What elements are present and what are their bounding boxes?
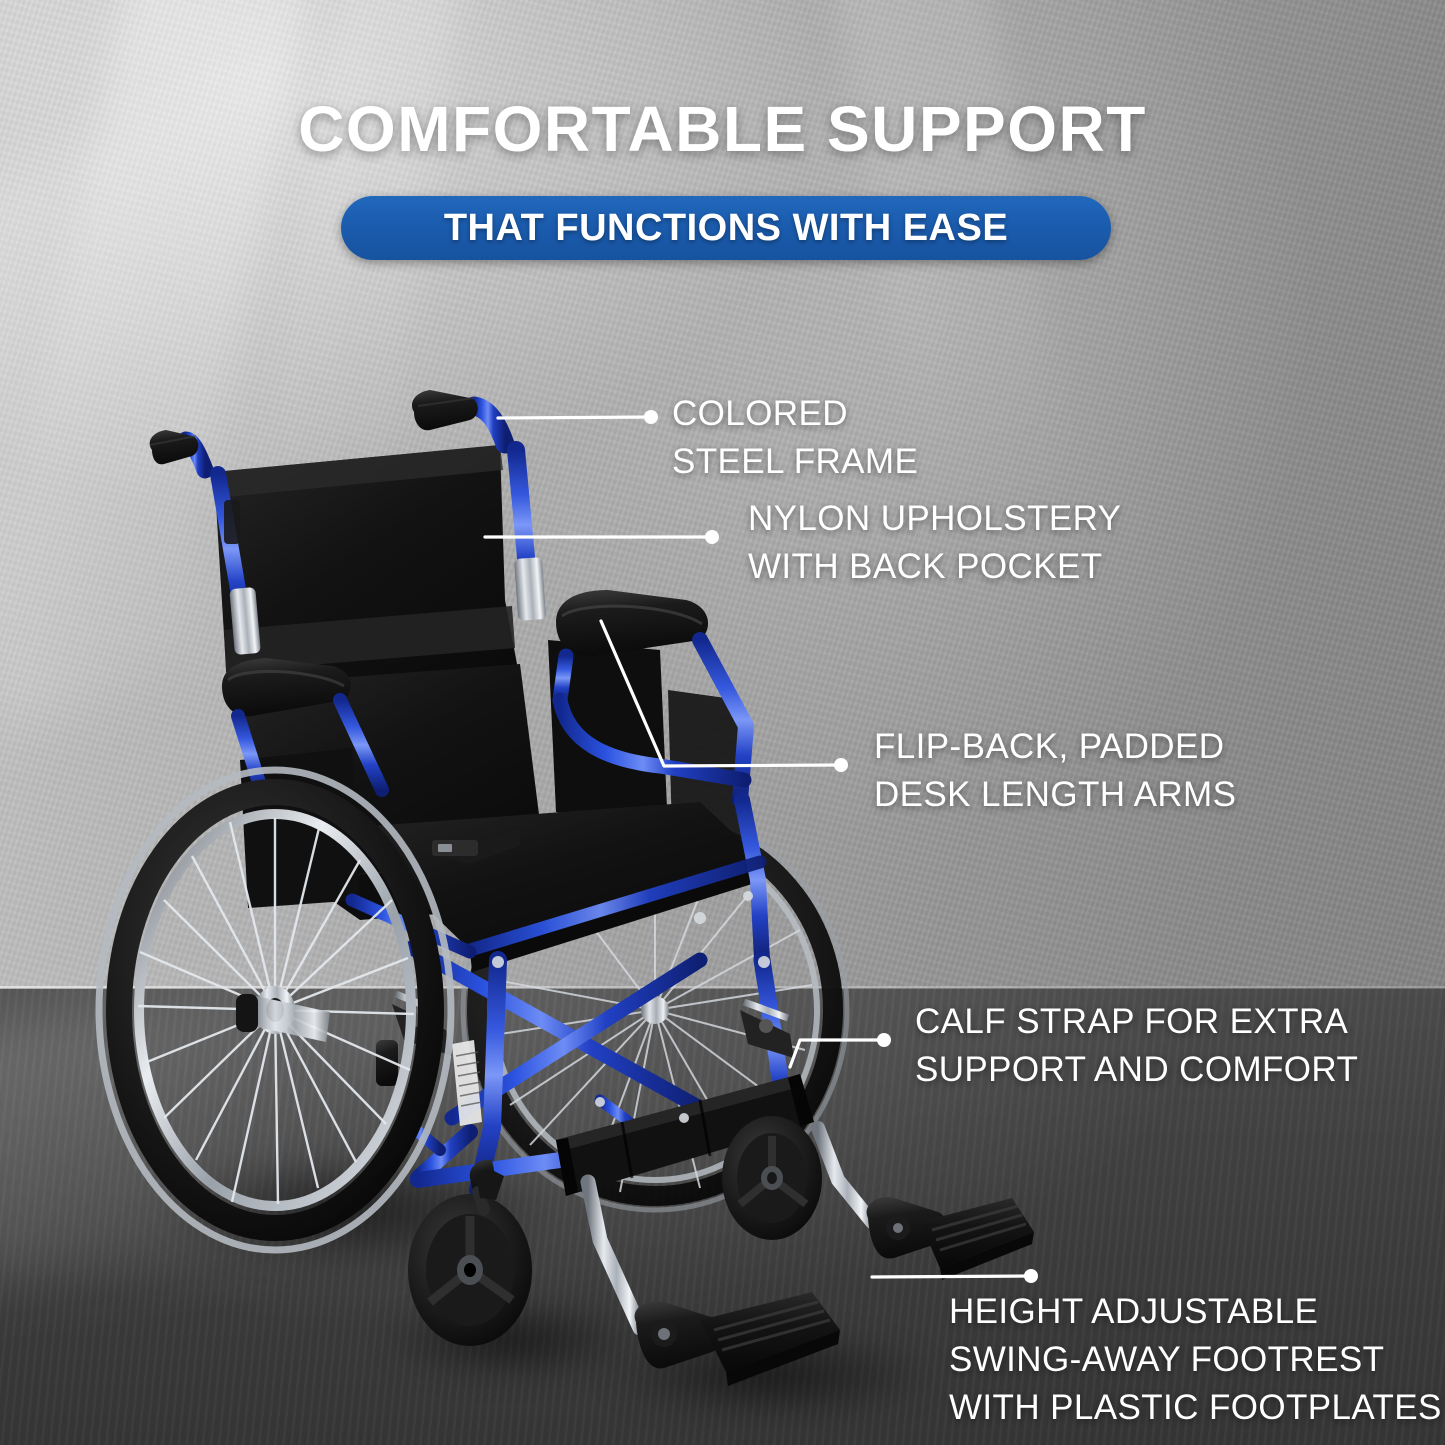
callout-label-colored-steel-frame: COLORED STEEL FRAME [672,390,918,486]
page-title: COMFORTABLE SUPPORT [0,92,1445,166]
callout-label-flip-back-arms: FLIP-BACK, PADDED DESK LENGTH ARMS [874,723,1236,819]
subtitle-banner-label: THAT FUNCTIONS WITH EASE [444,207,1008,250]
subtitle-banner: THAT FUNCTIONS WITH EASE [341,196,1111,260]
footrest-right [818,1128,1034,1280]
wheel-lock-lever-right [740,1002,794,1058]
callout-label-nylon-upholstery: NYLON UPHOLSTERY WITH BACK POCKET [748,495,1121,591]
infographic-canvas: COMFORTABLE SUPPORT THAT FUNCTIONS WITH … [0,0,1445,1445]
tipping-lever-left [476,1170,504,1200]
callout-label-swing-away-footrest: HEIGHT ADJUSTABLE SWING-AWAY FOOTREST WI… [949,1288,1442,1432]
callout-label-calf-strap: CALF STRAP FOR EXTRA SUPPORT AND COMFORT [915,998,1358,1094]
caster-wheel-right [722,1116,822,1240]
